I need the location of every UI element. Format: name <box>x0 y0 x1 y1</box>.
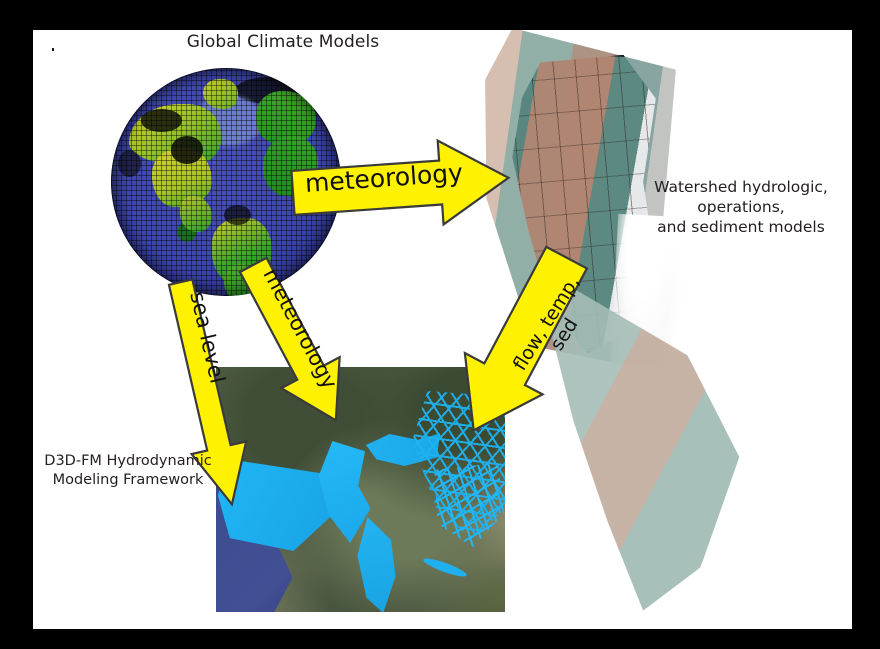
caption-d3dfm-line2: Modeling Framework <box>33 471 223 490</box>
page-title: Global Climate Models <box>143 32 423 52</box>
caption-d3dfm-framework: D3D-FM Hydrodynamic Modeling Framework <box>33 452 223 490</box>
slide-canvas: Global Climate Models <box>33 30 852 629</box>
caption-watershed-line2: operations, <box>633 198 849 218</box>
stray-dot-mark <box>52 48 54 51</box>
caption-d3dfm-line1: D3D-FM Hydrodynamic <box>33 452 223 471</box>
caption-watershed-models: Watershed hydrologic, operations, and se… <box>633 178 849 237</box>
caption-watershed-line3: and sediment models <box>633 218 849 238</box>
slide-frame: Global Climate Models <box>0 0 880 649</box>
caption-watershed-line1: Watershed hydrologic, <box>633 178 849 198</box>
